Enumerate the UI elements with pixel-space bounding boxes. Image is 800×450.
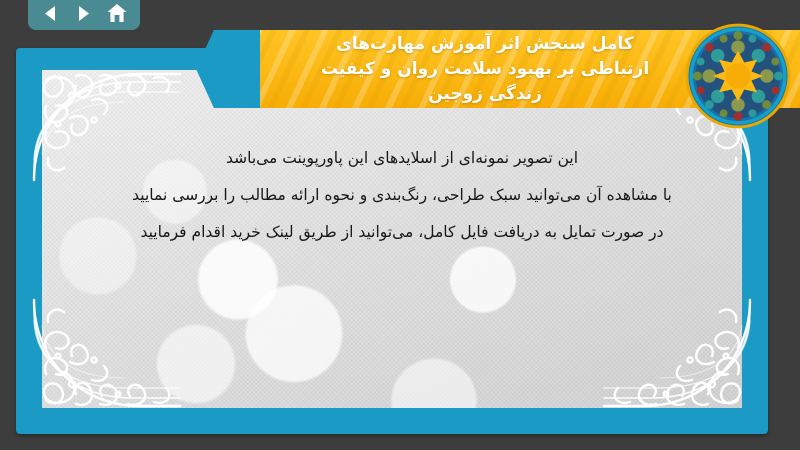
slide-stage: این تصویر نمونه‌ای از اسلایدهای این پاور…: [0, 0, 800, 450]
slide-body-text: این تصویر نمونه‌ای از اسلایدهای این پاور…: [76, 140, 728, 251]
home-button[interactable]: [103, 0, 131, 26]
next-triangle-icon: [75, 5, 92, 22]
title-line-3: زندگی زوجین: [266, 82, 704, 107]
title-line-1: کامل سنجش اثر آموزش مهارت‌های: [266, 32, 704, 57]
previous-triangle-icon: [42, 5, 59, 22]
body-line-3: در صورت تمایل به دریافت فایل کامل، می‌تو…: [76, 214, 728, 251]
slide-navigation-bar[interactable]: [28, 0, 140, 30]
persian-mandala-medallion: [684, 22, 792, 130]
body-line-1: این تصویر نمونه‌ای از اسلایدهای این پاور…: [76, 140, 728, 177]
previous-button[interactable]: [37, 0, 65, 26]
home-icon: [107, 4, 127, 23]
next-button[interactable]: [70, 0, 98, 26]
title-banner-tail: [196, 30, 260, 108]
body-line-2: با مشاهده آن می‌توانید سبک طراحی، رنگ‌بن…: [76, 177, 728, 214]
slide-title: کامل سنجش اثر آموزش مهارت‌های ارتباطی بر…: [266, 32, 704, 107]
title-line-2: ارتباطی بر بهبود سلامت روان و کیفیت: [266, 57, 704, 82]
